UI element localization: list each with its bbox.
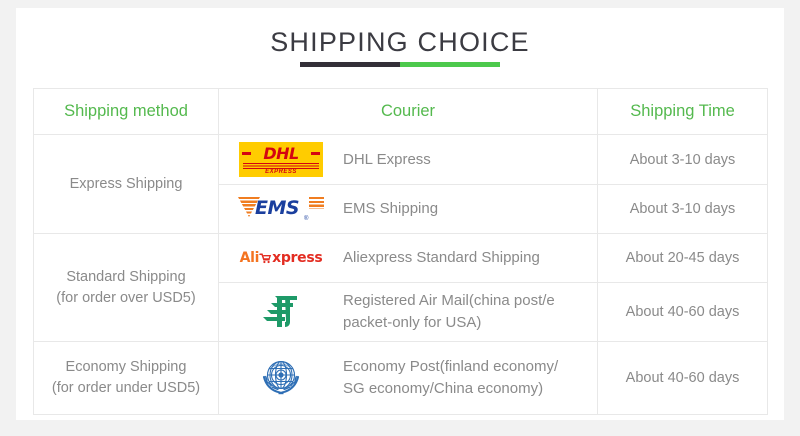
method-economy-shipping: Economy Shipping (for order under USD5) xyxy=(34,342,219,415)
courier-label-line1: Economy Post(finland economy/ xyxy=(343,356,558,378)
title-underline xyxy=(300,62,500,67)
dhl-wordmark: DHL xyxy=(239,146,323,162)
courier-dhl-express: DHL EXPRESS DHL Express xyxy=(219,135,598,185)
logo-slot: EMS ® xyxy=(233,196,329,222)
courier-ems-shipping: EMS ® EMS Shipping xyxy=(219,185,598,234)
title-underline-dark xyxy=(300,62,400,67)
method-express-shipping: Express Shipping xyxy=(34,135,219,234)
method-sublabel: (for order under USD5) xyxy=(34,378,218,399)
united-nations-logo xyxy=(258,356,304,400)
china-post-logo xyxy=(261,294,301,330)
aliexpress-wordmark-ali: Ali xyxy=(240,250,260,266)
method-label: Economy Shipping xyxy=(34,357,218,378)
courier-label: Registered Air Mail(china post/e packet-… xyxy=(343,290,555,334)
courier-economy-post: Economy Post(finland economy/ SG economy… xyxy=(219,342,598,415)
shipping-time-value: About 3-10 days xyxy=(598,185,768,234)
courier-label-line2: SG economy/China economy) xyxy=(343,378,558,400)
title-block: SHIPPING CHOICE xyxy=(16,26,784,58)
logo-slot: Ali xpress xyxy=(233,250,329,266)
header-shipping-time: Shipping Time xyxy=(598,89,768,135)
title-underline-green xyxy=(400,62,500,67)
courier-label-line1: Registered Air Mail(china post/e xyxy=(343,290,555,312)
method-standard-shipping: Standard Shipping (for order over USD5) xyxy=(34,234,219,342)
method-label: Express Shipping xyxy=(70,176,183,192)
dhl-logo: DHL EXPRESS xyxy=(239,142,323,177)
logo-slot: DHL EXPRESS xyxy=(233,142,329,177)
ems-wordmark: EMS xyxy=(255,197,299,219)
aliexpress-logo: Ali xpress xyxy=(240,250,323,266)
method-label: Standard Shipping xyxy=(34,267,218,288)
courier-label: DHL Express xyxy=(343,149,431,171)
shipping-time-value: About 3-10 days xyxy=(598,135,768,185)
table-row: Economy Shipping (for order under USD5) xyxy=(34,342,768,415)
ems-stripes xyxy=(309,197,324,209)
shopping-cart-icon xyxy=(259,252,272,265)
shipping-table: Shipping method Courier Shipping Time Ex… xyxy=(33,88,768,415)
shipping-time-value: About 40-60 days xyxy=(598,283,768,342)
logo-slot xyxy=(233,356,329,400)
ems-logo: EMS ® xyxy=(238,196,324,222)
table-row: Express Shipping DHL EXPRESS xyxy=(34,135,768,185)
courier-registered-air-mail: Registered Air Mail(china post/e packet-… xyxy=(219,283,598,342)
shipping-card: SHIPPING CHOICE Shipping method Courier … xyxy=(16,8,784,420)
logo-slot xyxy=(233,294,329,330)
shipping-time-value: About 40-60 days xyxy=(598,342,768,415)
page-title: SHIPPING CHOICE xyxy=(16,26,784,58)
courier-label: EMS Shipping xyxy=(343,198,438,220)
courier-label-line2: packet-only for USA) xyxy=(343,312,555,334)
header-shipping-method: Shipping method xyxy=(34,89,219,135)
courier-label: Economy Post(finland economy/ SG economy… xyxy=(343,356,558,400)
table-header-row: Shipping method Courier Shipping Time xyxy=(34,89,768,135)
shipping-time-value: About 20-45 days xyxy=(598,234,768,283)
courier-aliexpress-standard: Ali xpress Aliexpress Standard Shi xyxy=(219,234,598,283)
aliexpress-wordmark-xpress: xpress xyxy=(272,250,322,266)
courier-label: Aliexpress Standard Shipping xyxy=(343,247,540,269)
table-row: Standard Shipping (for order over USD5) … xyxy=(34,234,768,283)
ems-registered-mark: ® xyxy=(304,216,308,222)
method-sublabel: (for order over USD5) xyxy=(34,288,218,309)
dhl-sublabel: EXPRESS xyxy=(239,169,323,175)
header-courier: Courier xyxy=(219,89,598,135)
